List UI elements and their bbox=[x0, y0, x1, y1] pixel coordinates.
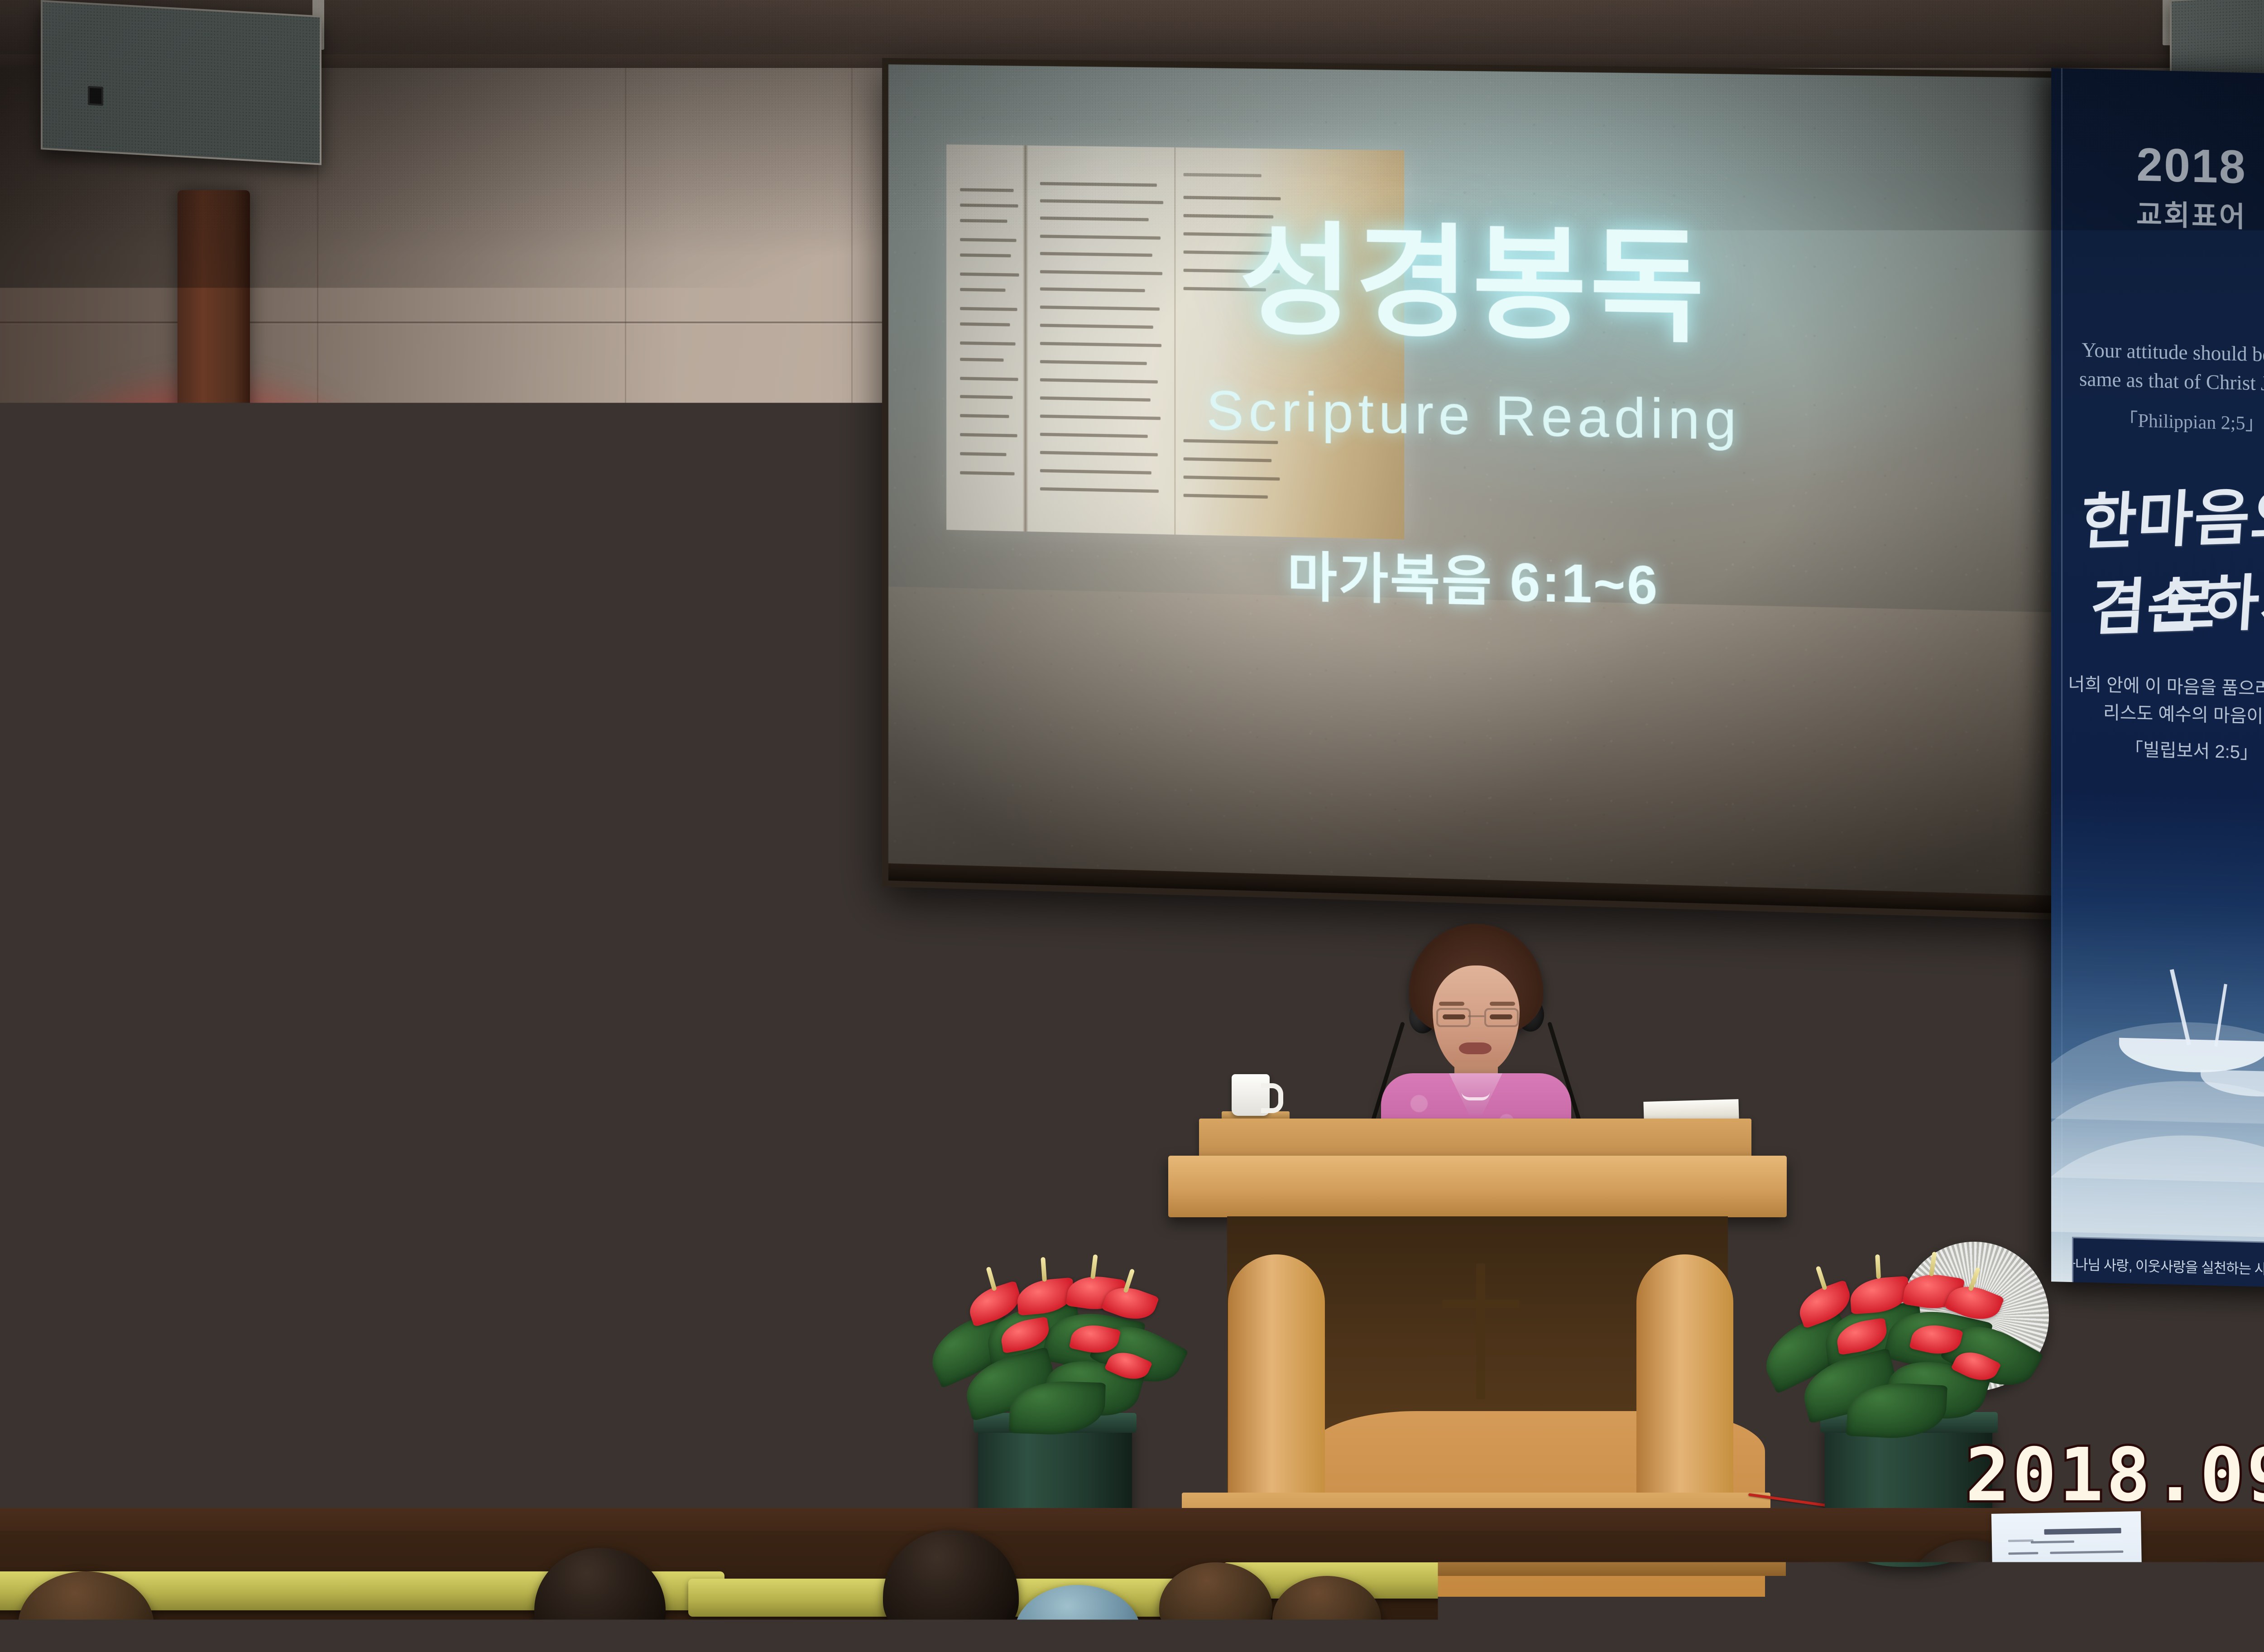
banner-year: 2018 bbox=[2051, 136, 2264, 197]
communion-table-riser bbox=[113, 1168, 290, 1244]
banner-english-verse: Your attitude should be the same as that… bbox=[2069, 336, 2264, 399]
church-theme-banner: 2018 교회표어 Your attitude should be the sa… bbox=[2051, 68, 2264, 1288]
communion-table bbox=[0, 1100, 457, 1553]
speaker-logo-badge bbox=[88, 86, 103, 106]
communion-table-panel bbox=[76, 1357, 302, 1506]
person-eye-left bbox=[1443, 1014, 1465, 1019]
cross-horizontal-beam bbox=[0, 569, 525, 645]
projection-screen: 성경봉독 Scripture Reading 마가복음 6:1~6 bbox=[882, 58, 2077, 920]
banner-korean-label: 교회표어 bbox=[2051, 189, 2264, 237]
speaker-grille bbox=[43, 2, 320, 163]
pulpit-cross-vertical bbox=[1476, 1263, 1485, 1399]
person-mouth bbox=[1459, 1042, 1492, 1054]
cross-vertical-beam bbox=[177, 190, 250, 1150]
white-mug bbox=[1232, 1074, 1270, 1116]
wall-plate-audio-2 bbox=[553, 1408, 585, 1463]
person-necklace bbox=[1462, 1092, 1490, 1100]
banner-tagline: 하나님 사랑, 이웃사랑을 실천하는 사랑공동체 bbox=[2072, 1237, 2264, 1288]
camera-date-stamp: 2018.09.30 bbox=[1966, 1433, 2264, 1518]
pulpit-top-ledge bbox=[1168, 1156, 1787, 1217]
banner-korean-reference: 「빌립보서 2:5」 bbox=[2065, 733, 2264, 766]
sanctuary-photograph: 성경봉독 Scripture Reading 마가복음 6:1~6 2018 교… bbox=[0, 0, 2264, 1652]
cross-backlight-glow bbox=[0, 290, 552, 779]
last-supper-relief-carving bbox=[112, 1402, 275, 1460]
wall-plate-power-outlet bbox=[594, 1405, 628, 1463]
hymn-sheet bbox=[1991, 1511, 2143, 1627]
wall-cross bbox=[0, 190, 566, 1150]
screen-vignette bbox=[888, 64, 2070, 913]
communion-table-shadow-band bbox=[14, 1296, 412, 1322]
pulpit bbox=[1168, 1119, 1793, 1576]
banner-korean-verse: 너희 안에 이 마음을 품으라 곧 그리스도 예수의 마음이니 bbox=[2065, 671, 2264, 732]
pulpit-column-right bbox=[1636, 1254, 1733, 1499]
banner-sea-artwork bbox=[2051, 792, 2264, 1288]
person-eye-right bbox=[1490, 1014, 1512, 1019]
projection-screen-surface: 성경봉독 Scripture Reading 마가복음 6:1~6 bbox=[888, 64, 2070, 913]
banner-calligraphy-line-2: 겸손하게 bbox=[2051, 551, 2264, 648]
pulpit-cross-horizontal bbox=[1442, 1300, 1519, 1308]
ceiling-speaker-left bbox=[41, 0, 321, 165]
pulpit-column-left bbox=[1228, 1254, 1325, 1499]
wall-plate-audio-1 bbox=[512, 1408, 543, 1463]
banner-english-reference: 「Philippian 2;5」 bbox=[2069, 403, 2264, 437]
communion-table-top bbox=[0, 1242, 439, 1299]
